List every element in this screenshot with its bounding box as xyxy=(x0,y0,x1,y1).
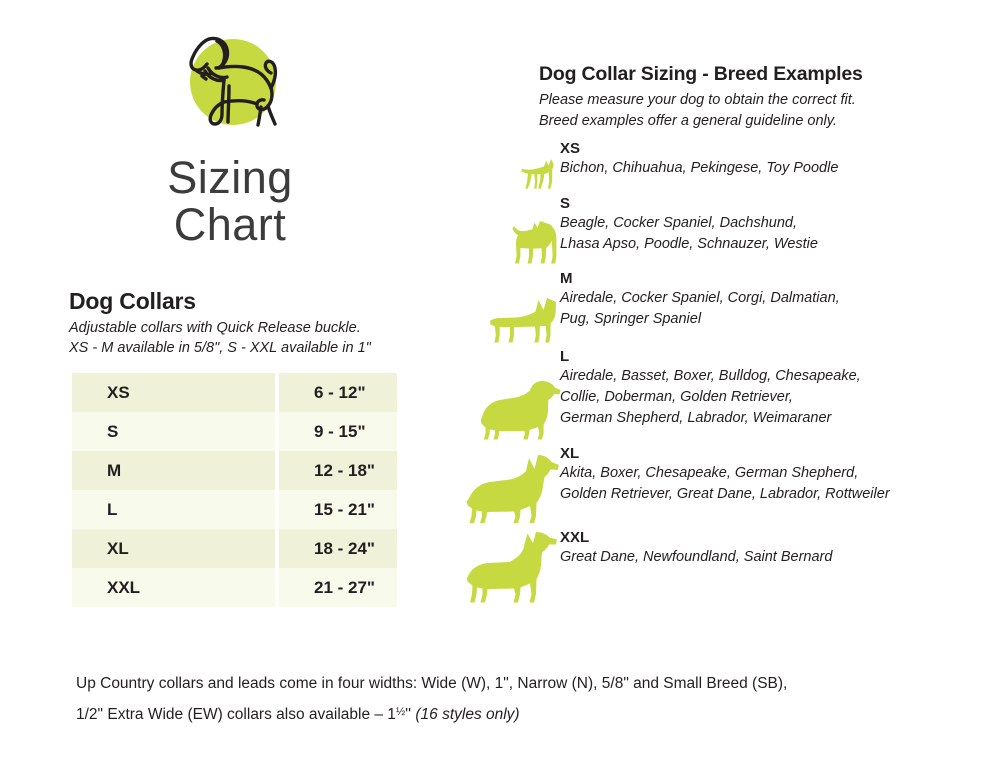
breed-example-line: Akita, Boxer, Chesapeake, German Shepher… xyxy=(560,463,1000,484)
breed-example-line: German Shepherd, Labrador, Weimaraner xyxy=(560,408,1000,429)
great-dane-silhouette-icon xyxy=(460,529,570,609)
collar-size-table: XS 6 - 12" S 9 - 15" M 12 - 18" L 15 - 2… xyxy=(72,373,397,607)
breed-example-line: Beagle, Cocker Spaniel, Dachshund, xyxy=(560,213,1000,234)
list-item: XS Bichon, Chihuahua, Pekingese, Toy Poo… xyxy=(460,140,1000,195)
breed-example-list: Airedale, Cocker Spaniel, Corgi, Dalmati… xyxy=(560,288,1000,330)
logo-wordmark-line-1: Sizing xyxy=(60,154,400,201)
footer-note-line-1: Up Country collars and leads come in fou… xyxy=(76,669,956,698)
breed-example-line: Bichon, Chihuahua, Pekingese, Toy Poodle xyxy=(560,158,1000,179)
breed-text: M Airedale, Cocker Spaniel, Corgi, Dalma… xyxy=(560,270,1000,330)
breed-example-list: Beagle, Cocker Spaniel, Dachshund, Lhasa… xyxy=(560,213,1000,255)
list-item: M Airedale, Cocker Spaniel, Corgi, Dalma… xyxy=(460,270,1000,348)
table-row: XL 18 - 24" xyxy=(72,529,397,568)
right-column: Dog Collar Sizing - Breed Examples Pleas… xyxy=(460,0,1000,640)
footer-fraction: ½ xyxy=(396,706,405,718)
breed-examples-subtitle: Please measure your dog to obtain the co… xyxy=(539,90,989,132)
table-cell-range: 18 - 24" xyxy=(279,529,397,568)
table-cell-range: 6 - 12" xyxy=(279,373,397,412)
breed-text: L Airedale, Basset, Boxer, Bulldog, Ches… xyxy=(560,348,1000,429)
brand-logo-block: Sizing Chart xyxy=(60,30,400,248)
logo-wordmark: Sizing Chart xyxy=(60,154,400,248)
breed-examples-subtitle-line-2: Breed examples offer a general guideline… xyxy=(539,111,989,132)
breed-example-line: Airedale, Cocker Spaniel, Corgi, Dalmati… xyxy=(560,288,1000,309)
table-row: S 9 - 15" xyxy=(72,412,397,451)
breed-example-list: Akita, Boxer, Chesapeake, German Shepher… xyxy=(560,463,1000,505)
collar-size-table-body: XS 6 - 12" S 9 - 15" M 12 - 18" L 15 - 2… xyxy=(72,373,397,607)
breed-size-label: M xyxy=(560,270,1000,288)
logo-wordmark-line-2: Chart xyxy=(60,201,400,248)
breed-text: XS Bichon, Chihuahua, Pekingese, Toy Poo… xyxy=(560,140,1000,179)
breed-example-line: Airedale, Basset, Boxer, Bulldog, Chesap… xyxy=(560,366,1000,387)
corgi-silhouette-icon xyxy=(460,270,570,348)
footer-note-line-2-b: '' xyxy=(405,706,415,723)
list-item: XL Akita, Boxer, Chesapeake, German Shep… xyxy=(460,445,1000,529)
breed-size-label: L xyxy=(560,348,1000,366)
list-item: XXL Great Dane, Newfoundland, Saint Bern… xyxy=(460,529,1000,609)
breed-examples-subtitle-line-1: Please measure your dog to obtain the co… xyxy=(539,90,989,111)
breed-size-label: S xyxy=(560,195,1000,213)
breed-size-label: XXL xyxy=(560,529,1000,547)
table-cell-size: M xyxy=(72,451,275,490)
chihuahua-silhouette-icon xyxy=(460,140,570,195)
footer-note: Up Country collars and leads come in fou… xyxy=(76,669,956,729)
table-cell-range: 9 - 15" xyxy=(279,412,397,451)
breed-text: XL Akita, Boxer, Chesapeake, German Shep… xyxy=(560,445,1000,505)
breed-examples-heading: Dog Collar Sizing - Breed Examples xyxy=(539,63,863,86)
list-item: S Beagle, Cocker Spaniel, Dachshund, Lha… xyxy=(460,195,1000,270)
breed-example-line: Great Dane, Newfoundland, Saint Bernard xyxy=(560,547,1000,568)
breed-example-line: Golden Retriever, Great Dane, Labrador, … xyxy=(560,484,1000,505)
german-shepherd-silhouette-icon xyxy=(460,445,570,529)
dog-collars-subtitle-line-1: Adjustable collars with Quick Release bu… xyxy=(69,318,429,338)
footer-note-line-2: 1/2" Extra Wide (EW) collars also availa… xyxy=(76,698,956,729)
left-column: Sizing Chart Dog Collars Adjustable coll… xyxy=(0,0,440,640)
table-row: M 12 - 18" xyxy=(72,451,397,490)
breed-example-line: Collie, Doberman, Golden Retriever, xyxy=(560,387,1000,408)
table-cell-range: 21 - 27" xyxy=(279,568,397,607)
table-cell-size: L xyxy=(72,490,275,529)
breed-example-line: Lhasa Apso, Poodle, Schnauzer, Westie xyxy=(560,234,1000,255)
dog-with-collar-logo-icon xyxy=(165,30,295,148)
table-row: XS 6 - 12" xyxy=(72,373,397,412)
table-cell-size: XL xyxy=(72,529,275,568)
table-row: L 15 - 21" xyxy=(72,490,397,529)
breed-example-line: Pug, Springer Spaniel xyxy=(560,309,1000,330)
breed-example-list: Airedale, Basset, Boxer, Bulldog, Chesap… xyxy=(560,366,1000,429)
breed-example-list: Bichon, Chihuahua, Pekingese, Toy Poodle xyxy=(560,158,1000,179)
table-cell-range: 12 - 18" xyxy=(279,451,397,490)
table-row: XXL 21 - 27" xyxy=(72,568,397,607)
dog-collars-subtitle: Adjustable collars with Quick Release bu… xyxy=(69,318,429,358)
breed-size-label: XL xyxy=(560,445,1000,463)
breed-size-label: XS xyxy=(560,140,1000,158)
golden-retriever-silhouette-icon xyxy=(460,348,570,445)
breed-examples-list: XS Bichon, Chihuahua, Pekingese, Toy Poo… xyxy=(460,140,1000,609)
table-cell-size: XXL xyxy=(72,568,275,607)
table-cell-range: 15 - 21" xyxy=(279,490,397,529)
table-cell-size: S xyxy=(72,412,275,451)
breed-text: S Beagle, Cocker Spaniel, Dachshund, Lha… xyxy=(560,195,1000,255)
table-cell-size: XS xyxy=(72,373,275,412)
breed-text: XXL Great Dane, Newfoundland, Saint Bern… xyxy=(560,529,1000,568)
footer-note-line-2-a: 1/2" Extra Wide (EW) collars also availa… xyxy=(76,706,396,723)
list-item: L Airedale, Basset, Boxer, Bulldog, Ches… xyxy=(460,348,1000,445)
footer-note-italic: (16 styles only) xyxy=(415,706,519,723)
westie-silhouette-icon xyxy=(460,195,570,270)
dog-collars-subtitle-line-2: XS - M available in 5/8", S - XXL availa… xyxy=(69,338,429,358)
dog-collars-heading: Dog Collars xyxy=(69,288,196,315)
breed-example-list: Great Dane, Newfoundland, Saint Bernard xyxy=(560,547,1000,568)
